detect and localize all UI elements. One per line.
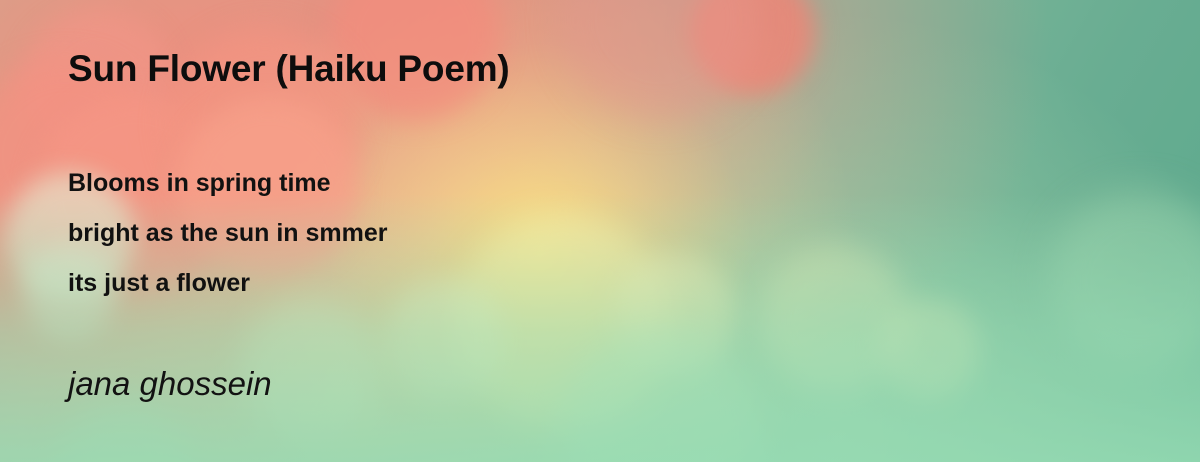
poem-text: Blooms in spring timebright as the sun i… bbox=[68, 158, 388, 308]
poem-line: its just a flower bbox=[68, 258, 388, 308]
poem-line: Blooms in spring time bbox=[68, 158, 388, 208]
poem-content: Sun Flower (Haiku Poem) Blooms in spring… bbox=[0, 0, 1200, 462]
poem-author: jana ghossein bbox=[68, 365, 272, 403]
page-title: Sun Flower (Haiku Poem) bbox=[68, 48, 510, 90]
poem-line: bright as the sun in smmer bbox=[68, 208, 388, 258]
poem-card: Sun Flower (Haiku Poem) Blooms in spring… bbox=[0, 0, 1200, 462]
